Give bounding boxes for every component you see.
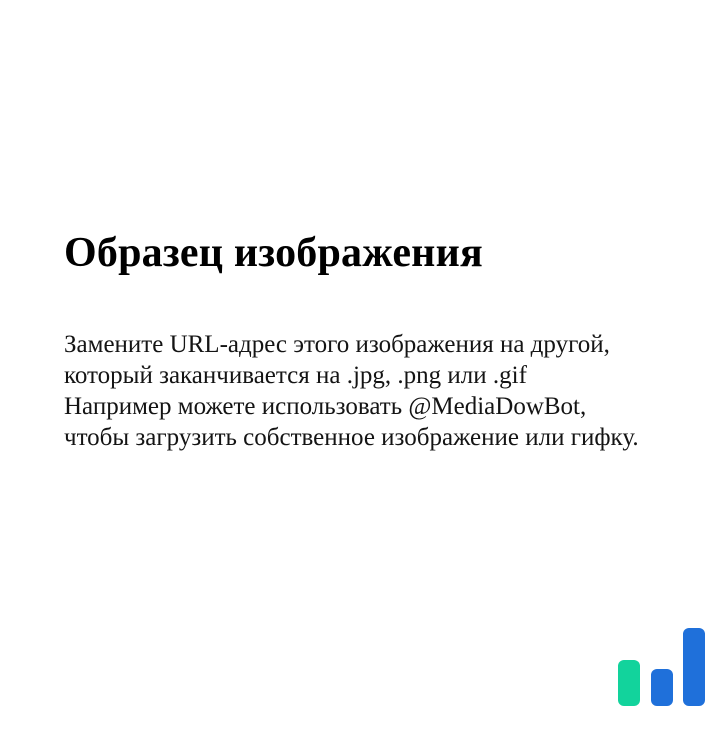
logo-bar-blue-tall [683,628,705,706]
logo-bar-green [618,660,640,706]
bar-chart-logo-icon [616,620,708,706]
instruction-line-1: Замените URL-адрес этого изображения на … [64,329,704,360]
image-placeholder-card: Образец изображения Замените URL-адрес э… [0,0,726,730]
instruction-text-block: Замените URL-адрес этого изображения на … [64,329,704,453]
logo-bar-blue-short [651,669,673,706]
instruction-line-3: Например можете использовать @MediaDowBo… [64,391,704,422]
instruction-line-4: чтобы загрузить собственное изображение … [64,422,704,453]
page-title: Образец изображения [64,228,483,278]
instruction-line-2: который заканчивается на .jpg, .png или … [64,360,704,391]
